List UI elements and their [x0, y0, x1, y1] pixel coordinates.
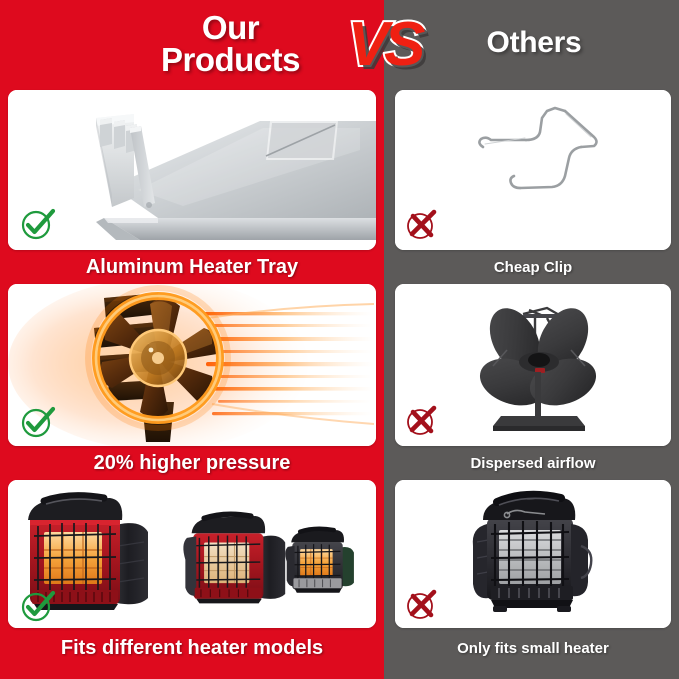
card-others-dispersed-airflow [395, 284, 671, 446]
vs-badge: VS [338, 6, 430, 82]
label-our-fits-models: Fits different heater models [8, 628, 376, 668]
label-our-higher-pressure: 20% higher pressure [8, 446, 376, 480]
our-products-title-line1: Our [202, 12, 259, 44]
card-others-small-heater [395, 480, 671, 628]
header: Our Products VS Others [0, 0, 679, 88]
check-icon [18, 400, 58, 440]
label-others-dispersed-airflow: Dispersed airflow [395, 446, 671, 480]
cross-icon [403, 582, 443, 622]
our-products-title: Our Products [118, 4, 343, 84]
card-our-higher-pressure [8, 284, 376, 446]
our-products-title-line2: Products [161, 44, 300, 76]
aluminum-heater-tray-image [8, 90, 376, 250]
label-others-small-heater: Only fits small heater [395, 628, 671, 668]
others-title: Others [405, 18, 663, 68]
card-our-aluminum-tray [8, 90, 376, 250]
cross-icon [403, 398, 443, 438]
label-others-cheap-clip: Cheap Clip [395, 250, 671, 284]
card-our-fits-models [8, 480, 376, 628]
card-others-cheap-clip [395, 90, 671, 250]
check-icon [18, 202, 58, 242]
check-icon [18, 584, 58, 624]
cross-icon [403, 202, 443, 242]
glowing-stove-fan-image [8, 284, 376, 446]
three-portable-heaters-image [8, 480, 376, 628]
label-our-aluminum-tray: Aluminum Heater Tray [8, 250, 376, 284]
comparison-infographic: Our Products VS Others [0, 0, 679, 679]
